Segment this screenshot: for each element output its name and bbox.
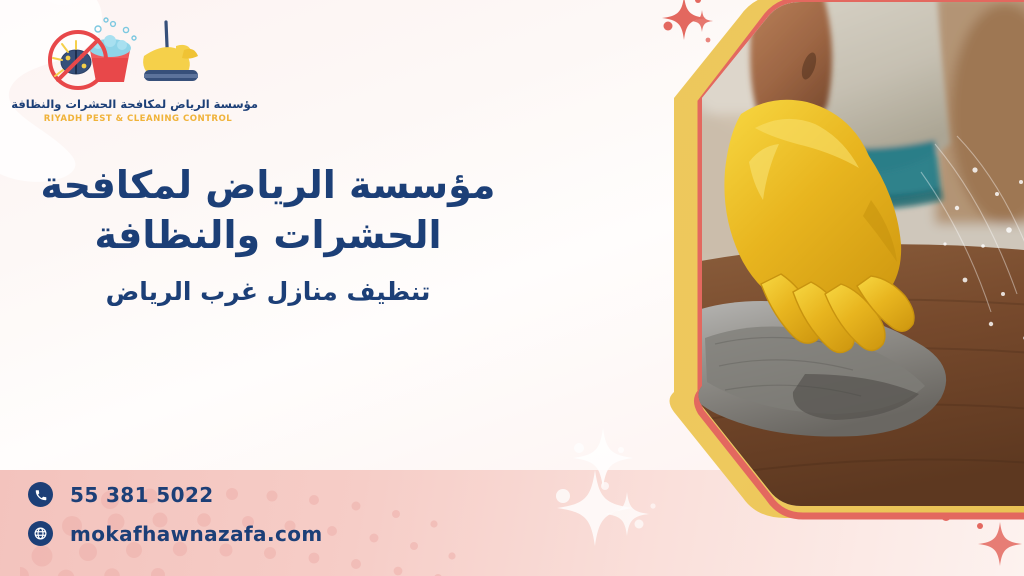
logo-arabic-text: مؤسسة الرياض لمكافحة الحشرات والنظافة xyxy=(18,97,258,111)
website-url: mokafhawnazafa.com xyxy=(70,522,323,546)
contact-block: 55 381 5022 mokafhawnazafa.com xyxy=(28,482,323,560)
phone-icon xyxy=(28,482,53,507)
phone-number: 55 381 5022 xyxy=(70,483,214,507)
brand-logo: مؤسسة الرياض لمكافحة الحشرات والنظافة RI… xyxy=(18,16,258,124)
contact-row-website[interactable]: mokafhawnazafa.com xyxy=(28,521,323,546)
pest-control-cleaning-logo-icon xyxy=(18,16,258,96)
headline-block: مؤسسة الرياض لمكافحة الحشرات والنظافة تن… xyxy=(31,160,505,309)
contact-row-phone[interactable]: 55 381 5022 xyxy=(28,482,323,507)
poster-canvas: مؤسسة الرياض لمكافحة الحشرات والنظافة RI… xyxy=(0,0,1024,576)
page-subtitle: تنظيف منازل غرب الرياض xyxy=(31,276,505,309)
logo-english-text: RIYADH PEST & CLEANING CONTROL xyxy=(18,114,258,124)
globe-icon xyxy=(28,521,53,546)
page-title: مؤسسة الرياض لمكافحة الحشرات والنظافة xyxy=(31,160,505,260)
headline-line-1: مؤسسة الرياض لمكافحة xyxy=(41,163,496,207)
photo-frame xyxy=(505,0,1024,550)
headline-line-2: الحشرات والنظافة xyxy=(94,213,441,257)
